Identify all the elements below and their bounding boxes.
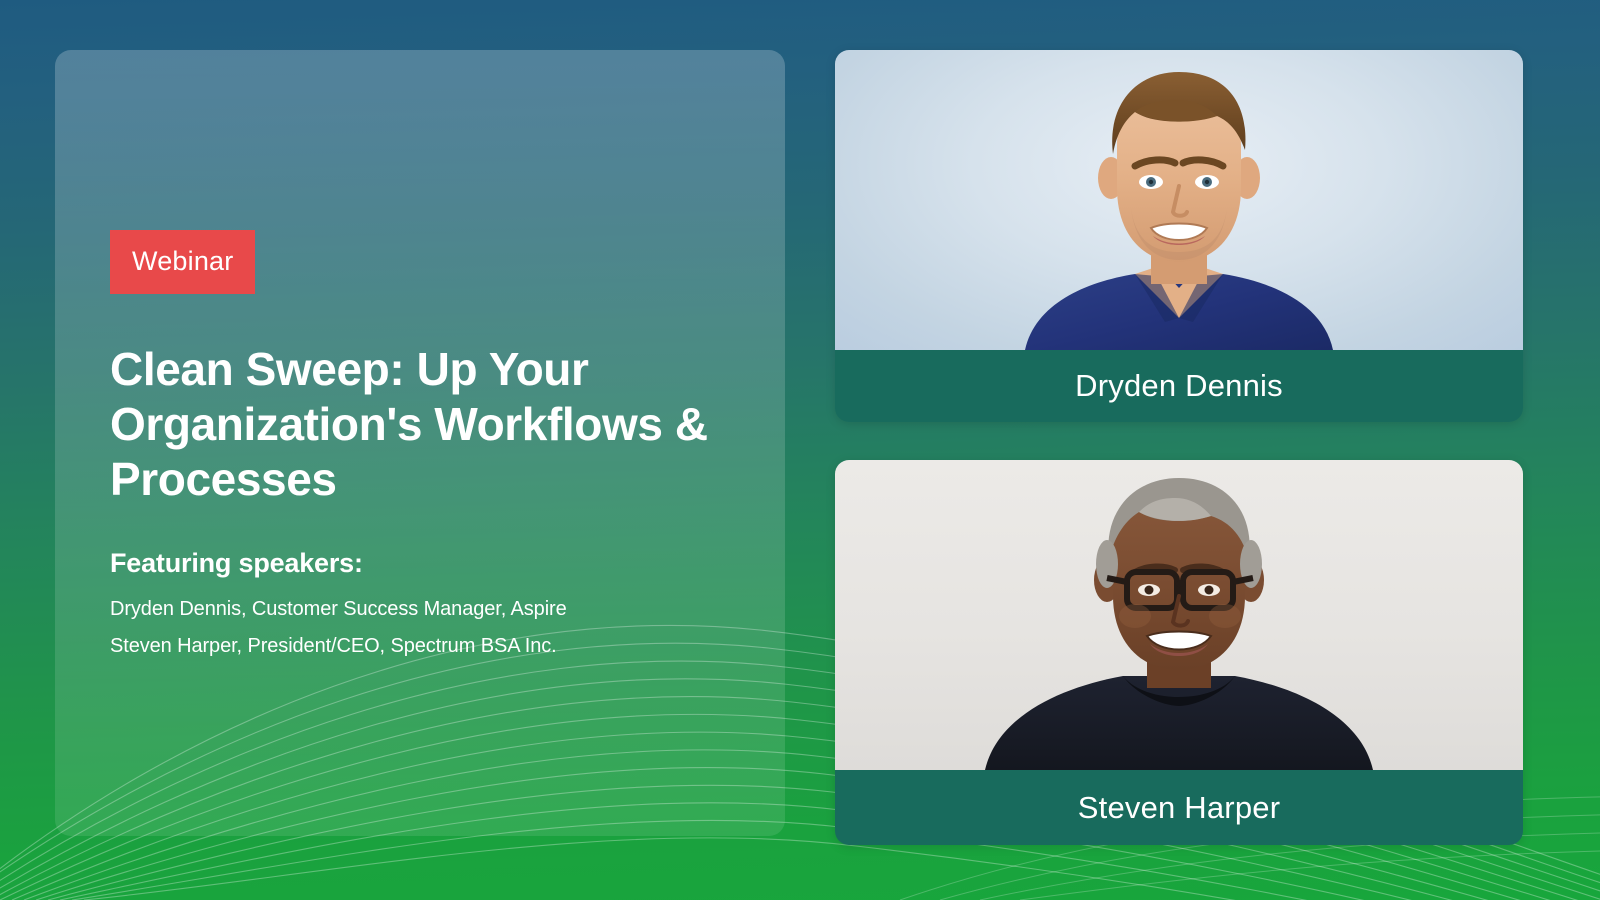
status-badge: Webinar xyxy=(110,230,255,294)
speaker-name: Steven Harper xyxy=(835,770,1523,845)
speaker-credit-line: Steven Harper, President/CEO, Spectrum B… xyxy=(110,628,770,665)
webinar-promo-graphic: Webinar Clean Sweep: Up Your Organizatio… xyxy=(0,0,1600,900)
page-title: Clean Sweep: Up Your Organization's Work… xyxy=(110,342,750,507)
info-card-content: Webinar Clean Sweep: Up Your Organizatio… xyxy=(110,230,770,665)
speaker-name: Dryden Dennis xyxy=(835,350,1523,422)
info-card: Webinar Clean Sweep: Up Your Organizatio… xyxy=(55,50,785,836)
speaker-card: Dryden Dennis xyxy=(835,50,1523,422)
portrait-illustration xyxy=(835,50,1523,350)
speaker-photo xyxy=(835,50,1523,350)
speaker-card: Steven Harper xyxy=(835,460,1523,845)
portrait-illustration xyxy=(835,460,1523,770)
featuring-heading: Featuring speakers: xyxy=(110,547,770,579)
speaker-photo xyxy=(835,460,1523,770)
speaker-credit-line: Dryden Dennis, Customer Success Manager,… xyxy=(110,591,770,628)
